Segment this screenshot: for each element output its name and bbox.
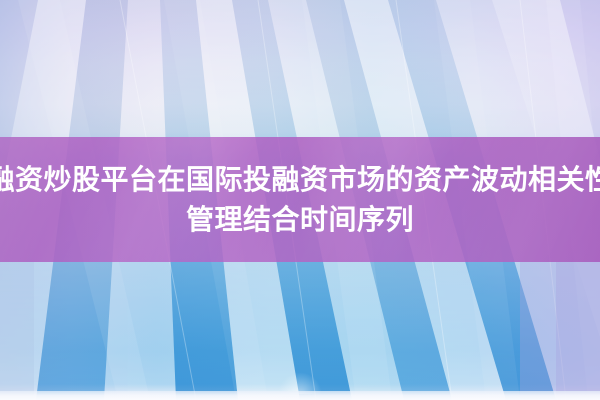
page-title-line-2: 管理结合时间序列 [186,200,414,240]
banner: 融资炒股平台在国际投融资市场的资产波动相关性 管理结合时间序列 [0,0,600,400]
title-band: 融资炒股平台在国际投融资市场的资产波动相关性 管理结合时间序列 [0,137,600,262]
page-title-line-1: 融资炒股平台在国际投融资市场的资产波动相关性 [0,160,600,200]
bottom-light-strip [0,391,600,400]
